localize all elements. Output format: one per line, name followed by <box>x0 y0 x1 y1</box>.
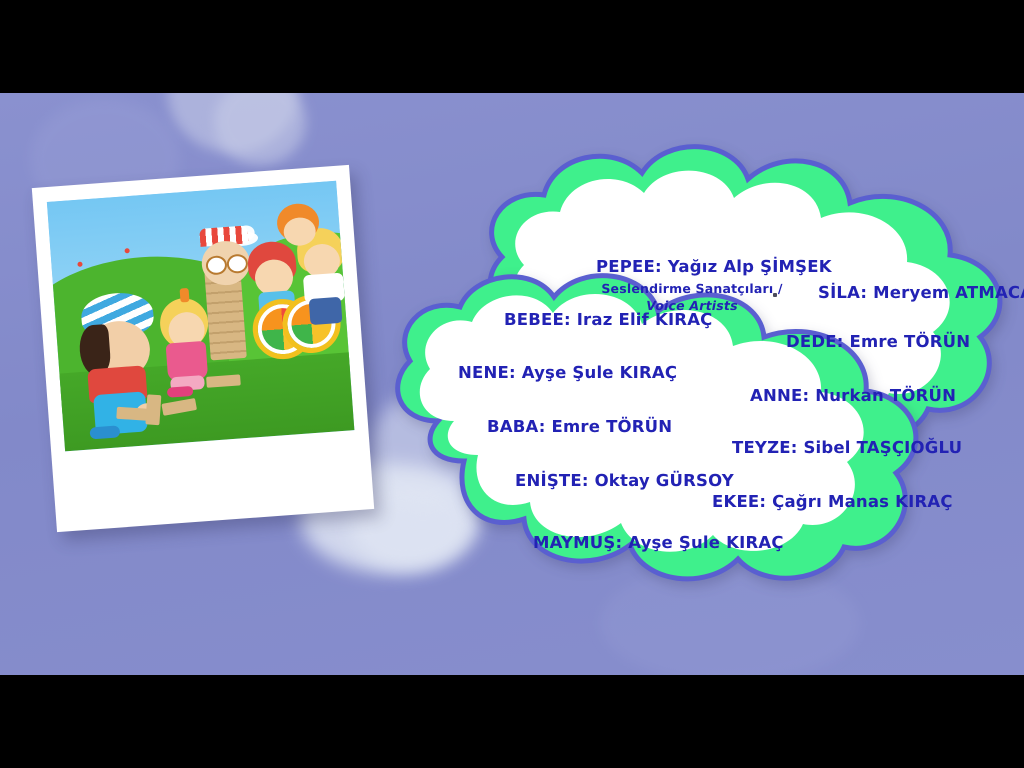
credit-line-eniste: ENİŞTE: Oktay GÜRSOY <box>515 471 734 490</box>
credit-role: NENE: <box>458 363 522 382</box>
credit-line-ekee: EKEE: Çağrı Manas KIRAÇ <box>712 492 953 511</box>
credit-name: Meryem ATMACA <box>873 283 1024 302</box>
credit-role: TEYZE: <box>732 438 803 457</box>
photo-image <box>47 181 355 452</box>
credit-line-teyze: TEYZE: Sibel TAŞÇIOĞLU <box>732 438 962 457</box>
credit-role: DEDE: <box>786 332 849 351</box>
compression-artifact-dot <box>773 293 777 297</box>
credit-name: Emre TÖRÜN <box>849 332 970 351</box>
background-bubble <box>214 93 306 165</box>
heading-line-turkish: Seslendirme Sanatçıları / <box>590 281 794 298</box>
credit-line-nene: NENE: Ayşe Şule KIRAÇ <box>458 363 677 382</box>
credit-line-bebee: BEBEE: Iraz Elif KIRAÇ <box>504 310 713 329</box>
video-stage: Seslendirme Sanatçıları / Voice Artists … <box>0 93 1024 675</box>
letterbox-bar-top <box>0 0 1024 93</box>
credit-line-maymus: MAYMUŞ: Ayşe Şule KIRAÇ <box>533 533 784 552</box>
credit-name: Oktay GÜRSOY <box>595 471 734 490</box>
credit-role: ENİŞTE: <box>515 471 595 490</box>
credit-line-dede: DEDE: Emre TÖRÜN <box>786 332 970 351</box>
credit-name: Nurkan TÖRÜN <box>815 386 956 405</box>
polaroid-photo-card <box>32 165 374 532</box>
back-kid-pants <box>309 297 343 325</box>
credit-role: EKEE: <box>712 492 772 511</box>
credit-name: Çağrı Manas KIRAÇ <box>772 492 953 511</box>
credit-name: Ayşe Şule KIRAÇ <box>522 363 677 382</box>
credit-role: BEBEE: <box>504 310 577 329</box>
credit-name: Ayşe Şule KIRAÇ <box>628 533 783 552</box>
credit-role: SİLA: <box>818 283 873 302</box>
credit-name: Sibel TAŞÇIOĞLU <box>803 438 962 457</box>
credit-line-baba: BABA: Emre TÖRÜN <box>487 417 672 436</box>
credit-name: Emre TÖRÜN <box>552 417 673 436</box>
letterbox-bar-bottom <box>0 675 1024 768</box>
credit-name: Yağız Alp ŞİMŞEK <box>668 257 832 276</box>
wood-block <box>145 394 161 425</box>
credit-role: MAYMUŞ: <box>533 533 628 552</box>
credit-role: BABA: <box>487 417 552 436</box>
video-player-frame: Seslendirme Sanatçıları / Voice Artists … <box>0 0 1024 768</box>
credit-role: ANNE: <box>750 386 815 405</box>
credit-line-pepee: PEPEE: Yağız Alp ŞİMŞEK <box>596 257 832 276</box>
pepee-shoe <box>89 425 120 439</box>
credit-name: Iraz Elif KIRAÇ <box>577 310 713 329</box>
credit-line-sila: SİLA: Meryem ATMACA <box>818 283 1024 302</box>
credit-line-anne: ANNE: Nurkan TÖRÜN <box>750 386 956 405</box>
sila-hairpin <box>180 288 190 303</box>
character-back-orange <box>269 196 327 256</box>
sila-shoe <box>167 386 194 398</box>
credit-role: PEPEE: <box>596 257 668 276</box>
back-orange-face <box>283 216 317 246</box>
